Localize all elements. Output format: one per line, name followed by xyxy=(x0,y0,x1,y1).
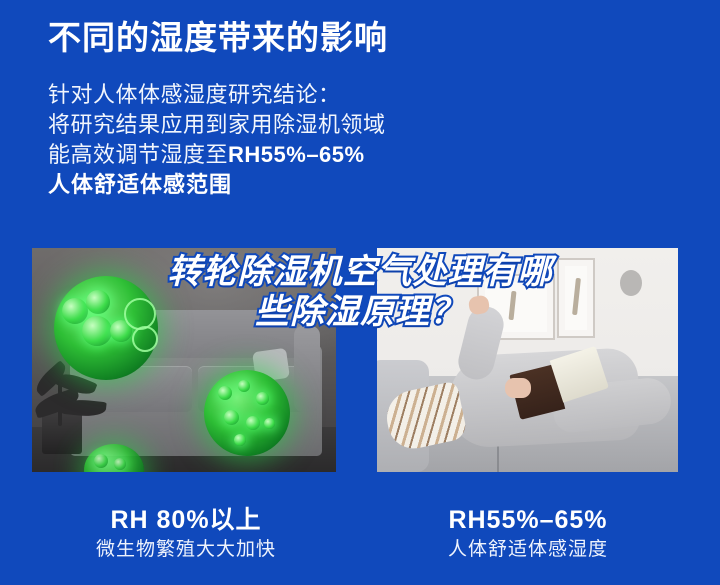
caption-high-humidity: RH 80%以上 微生物繁殖大大加快 xyxy=(36,504,336,564)
conclusion-line-3-prefix: 能高效调节湿度至 xyxy=(48,142,228,167)
conclusion-line-2: 将研究结果应用到家用除湿机领域 xyxy=(48,110,386,140)
wall-art-frame-2 xyxy=(557,258,595,338)
microbe-dot xyxy=(86,290,110,314)
poster-root: 不同的湿度带来的影响 针对人体体感湿度研究结论： 将研究结果应用到家用除湿机领域… xyxy=(0,0,720,585)
microbe-ring xyxy=(124,298,156,330)
humidity-range-value: RH55%–65% xyxy=(228,142,365,167)
plant-pot xyxy=(42,410,82,454)
wall-speaker-icon xyxy=(620,270,642,296)
microbe-dot xyxy=(82,316,112,346)
wall-art-canvas xyxy=(565,266,587,330)
caption-comfort-humidity-value: RH55%–65% xyxy=(378,504,678,536)
comfort-humidity-panel xyxy=(377,248,678,472)
high-humidity-panel xyxy=(32,248,336,472)
caption-high-humidity-value: RH 80%以上 xyxy=(36,504,336,536)
microbe-ring xyxy=(132,326,158,352)
conclusion-line-1: 针对人体体感湿度研究结论： xyxy=(48,80,386,110)
microbe-dot xyxy=(234,434,246,446)
sofa-arm-right xyxy=(294,326,320,412)
conclusion-line-3: 能高效调节湿度至RH55%–65% xyxy=(48,140,386,170)
page-title: 不同的湿度带来的影响 xyxy=(48,18,388,58)
microbe-dot xyxy=(62,298,88,324)
microbe-cluster-small xyxy=(204,370,290,456)
caption-comfort-humidity-desc: 人体舒适体感湿度 xyxy=(378,536,678,564)
microbe-dot xyxy=(224,410,239,425)
microbe-dot xyxy=(238,380,250,392)
plant-stem xyxy=(58,382,62,426)
research-conclusion-block: 针对人体体感湿度研究结论： 将研究结果应用到家用除湿机领域 能高效调节湿度至RH… xyxy=(48,80,386,200)
microbe-cluster-large xyxy=(54,276,158,380)
dim-living-room-image xyxy=(32,248,336,472)
microbe-dot xyxy=(264,418,275,429)
conclusion-line-4: 人体舒适体感范围 xyxy=(48,170,386,200)
bright-living-room-image xyxy=(377,248,678,472)
microbe-dot xyxy=(218,386,232,400)
person-hand-holding-book xyxy=(505,378,531,398)
caption-high-humidity-desc: 微生物繁殖大大加快 xyxy=(36,536,336,564)
microbe-dot xyxy=(256,392,269,405)
microbe-dot xyxy=(94,454,108,468)
microbe-dot xyxy=(246,416,260,430)
microbe-dot xyxy=(114,458,126,470)
caption-comfort-humidity: RH55%–65% 人体舒适体感湿度 xyxy=(378,504,678,564)
